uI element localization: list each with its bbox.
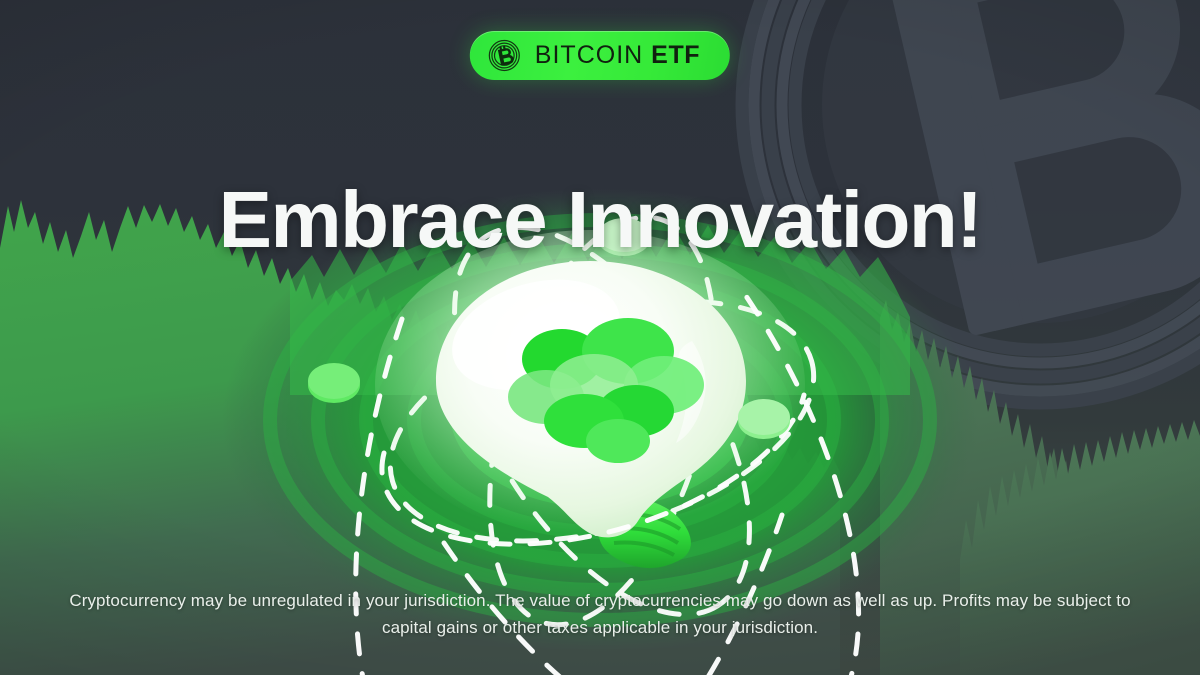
- promo-banner: BITCOIN ETF Embrace Innovation! Cryptocu…: [0, 0, 1200, 675]
- disclaimer-text: Cryptocurrency may be unregulated in you…: [0, 587, 1200, 642]
- orbit-node-left: [308, 363, 360, 403]
- badge-label-etf: ETF: [651, 41, 700, 69]
- badge-label: BITCOIN ETF: [535, 41, 700, 70]
- bitcoin-etf-badge[interactable]: BITCOIN ETF: [470, 31, 730, 80]
- orbit-node-right: [738, 399, 790, 439]
- badge-label-bitcoin: BITCOIN: [535, 41, 643, 69]
- lightbulb-illustration: [340, 225, 860, 625]
- page-title: Embrace Innovation!: [0, 180, 1200, 260]
- bitcoin-coin-icon: [488, 39, 521, 72]
